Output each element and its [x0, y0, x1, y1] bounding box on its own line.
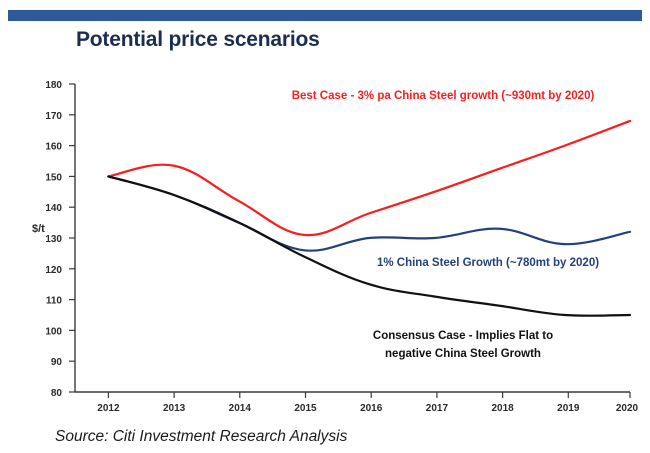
y-axis-tick-labels: 180 170 160 150 140 130 120 110 100 90 8…	[45, 80, 62, 399]
annotation-consensus-line1: Consensus Case - Implies Flat to	[373, 330, 553, 342]
chart-annotations: Best Case - 3% pa China Steel growth (~9…	[292, 90, 600, 360]
x-tick-label: 2018	[491, 403, 514, 414]
x-axis-ticks	[108, 392, 630, 398]
annotation-one-percent: 1% China Steel Growth (~780mt by 2020)	[377, 257, 599, 269]
x-tick-label: 2015	[294, 403, 317, 414]
y-tick-label: 80	[51, 388, 63, 399]
annotation-best-case: Best Case - 3% pa China Steel growth (~9…	[292, 90, 595, 102]
x-tick-label: 2012	[97, 403, 120, 414]
y-tick-label: 120	[45, 265, 62, 276]
y-axis-title: $/t	[32, 223, 45, 235]
y-tick-label: 180	[45, 80, 62, 91]
x-tick-label: 2019	[557, 403, 580, 414]
x-axis-tick-labels: 2012 2013 2014 2015 2016 2017 2018 2019 …	[97, 403, 638, 414]
chart-axes	[75, 84, 630, 392]
line-chart: 180 170 160 150 140 130 120 110 100 90 8…	[0, 0, 650, 453]
series-line-best-case	[108, 121, 630, 235]
x-tick-label: 2014	[229, 403, 252, 414]
y-tick-label: 130	[45, 234, 62, 245]
chart-page: Potential price scenarios 180 170 160 15…	[0, 0, 650, 453]
y-tick-label: 110	[46, 296, 63, 307]
x-tick-label: 2013	[163, 403, 186, 414]
source-note: Source: Citi Investment Research Analysi…	[55, 428, 347, 446]
x-tick-label: 2020	[616, 403, 639, 414]
y-tick-label: 100	[45, 326, 62, 337]
y-tick-label: 160	[45, 142, 62, 153]
series-line-consensus	[108, 176, 630, 315]
x-tick-label: 2016	[360, 403, 383, 414]
annotation-consensus-line2: negative China Steel Growth	[385, 348, 541, 360]
y-tick-label: 150	[45, 172, 62, 183]
y-tick-label: 140	[45, 203, 62, 214]
x-tick-label: 2017	[426, 403, 449, 414]
y-tick-label: 170	[45, 111, 62, 122]
chart-series-group	[108, 121, 630, 316]
y-tick-label: 90	[51, 357, 63, 368]
y-axis-ticks	[69, 84, 75, 392]
